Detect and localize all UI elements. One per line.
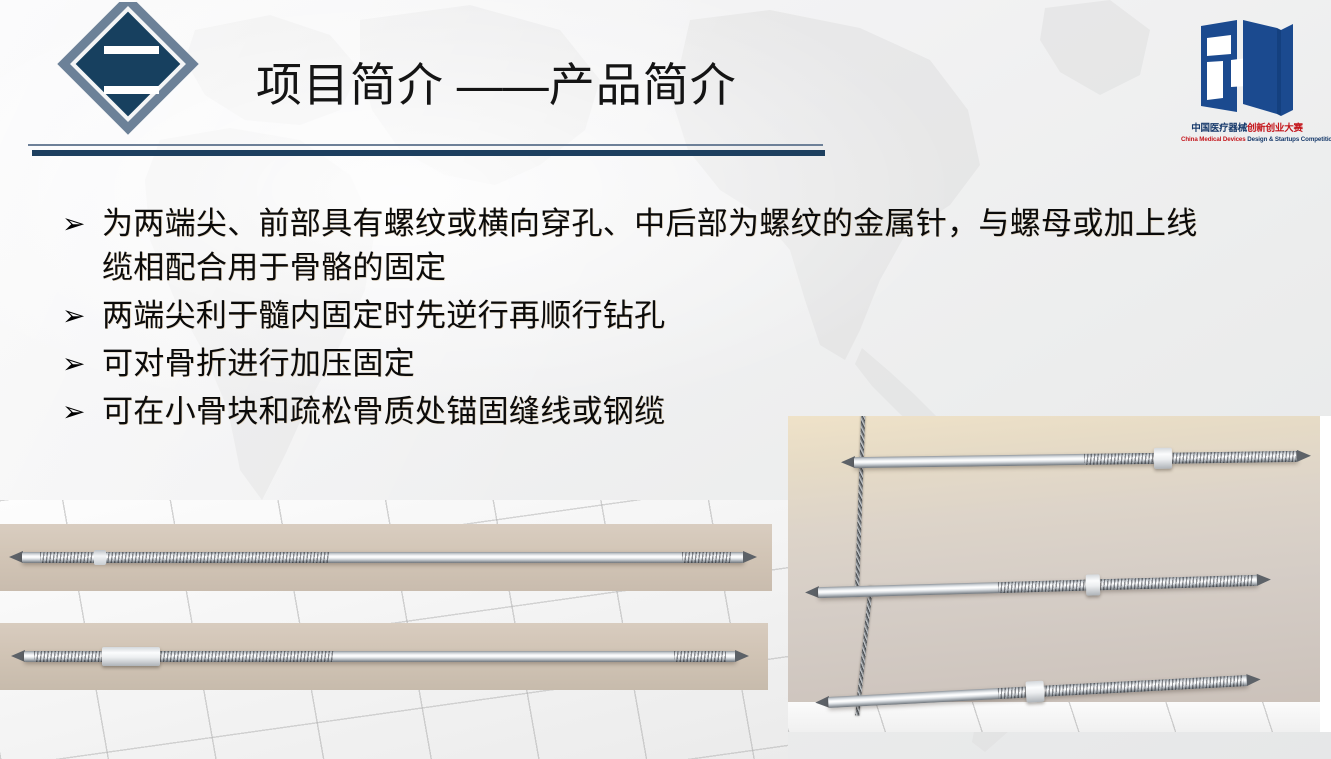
bullet-arrow-icon: ➢	[56, 390, 102, 434]
contest-name-en-blue: Design & Startups Competition	[1247, 136, 1331, 143]
page-title: 项目简介 ——产品简介	[256, 62, 737, 108]
photo-pin-single-bottom	[0, 623, 768, 690]
contest-logo: 中国医疗器械创新创业大赛 China Medical Devices Desig…	[1181, 16, 1313, 166]
pin-object	[22, 552, 744, 563]
contest-name-en: China Medical Devices Design & Startups …	[1181, 136, 1313, 143]
contest-name-en-red: China Medical Devices	[1181, 136, 1246, 143]
pin-thread-rear	[682, 552, 732, 563]
pin-nut	[1086, 574, 1101, 595]
pin-nut	[1025, 681, 1044, 703]
contest-name-cn-red: 创新创业大赛	[1247, 123, 1303, 134]
page-title-separator: ——	[444, 59, 549, 111]
pin-nut	[102, 647, 160, 666]
contest-name-cn: 中国医疗器械创新创业大赛	[1181, 124, 1313, 135]
photo-pin-single-top	[0, 524, 772, 591]
bullet-list: ➢ 为两端尖、前部具有螺纹或横向穿孔、中后部为螺纹的金属针，与螺母或加上线缆相配…	[56, 202, 1236, 438]
pin-nut	[1154, 448, 1172, 469]
pin-collar	[94, 550, 106, 565]
open-book-icon	[1193, 16, 1301, 120]
bullet-text: 两端尖利于髓内固定时先逆行再顺行钻孔	[102, 294, 1236, 338]
bullet-text: 为两端尖、前部具有螺纹或横向穿孔、中后部为螺纹的金属针，与螺母或加上线缆相配合用…	[102, 202, 1222, 290]
pin-thread-front	[34, 651, 334, 662]
pin-tip-right	[1297, 450, 1311, 462]
bullet-arrow-icon: ➢	[56, 294, 102, 338]
pin-thread-front	[40, 552, 330, 563]
bullet-arrow-icon: ➢	[56, 342, 102, 386]
photo-pin-assembly	[788, 416, 1320, 732]
steel-cable-upper	[855, 416, 865, 596]
pin-tip-right	[1246, 673, 1261, 686]
photo-right-margin	[1320, 416, 1331, 732]
bullet-text: 可对骨折进行加压固定	[102, 342, 1236, 386]
title-rule-thick	[32, 150, 825, 156]
page-title-sub: 产品简介	[549, 59, 737, 111]
bullet-arrow-icon: ➢	[56, 202, 102, 246]
contest-name-cn-blue: 中国医疗器械	[1191, 123, 1247, 134]
pin-tip-right	[1257, 573, 1271, 585]
bullet-item: ➢ 两端尖利于髓内固定时先逆行再顺行钻孔	[56, 294, 1236, 338]
pin-object-top	[854, 451, 1298, 468]
pin-thread-rear	[998, 575, 1254, 593]
pin-object-middle	[818, 575, 1258, 598]
pin-tip-right	[735, 650, 749, 662]
bullet-item: ➢ 可对骨折进行加压固定	[56, 342, 1236, 386]
diamond-emblem-icon	[40, 2, 220, 148]
bullet-item: ➢ 为两端尖、前部具有螺纹或横向穿孔、中后部为螺纹的金属针，与螺母或加上线缆相配…	[56, 202, 1236, 290]
pin-thread-rear	[674, 651, 726, 662]
slide-canvas: 项目简介 ——产品简介 中国医疗器械创新创业大赛 China Medical D…	[0, 0, 1331, 759]
pin-tip-left	[9, 551, 23, 563]
title-rule-thin	[28, 144, 823, 146]
slide-header: 项目简介 ——产品简介 中国医疗器械创新创业大赛 China Medical D…	[0, 0, 1331, 170]
pin-thread-rear	[1084, 451, 1298, 465]
page-title-main: 项目简介	[256, 59, 444, 111]
assembly-floor	[788, 702, 1320, 732]
pin-tip-right	[743, 551, 757, 563]
pin-tip-left	[11, 650, 25, 662]
pin-object	[24, 651, 736, 662]
